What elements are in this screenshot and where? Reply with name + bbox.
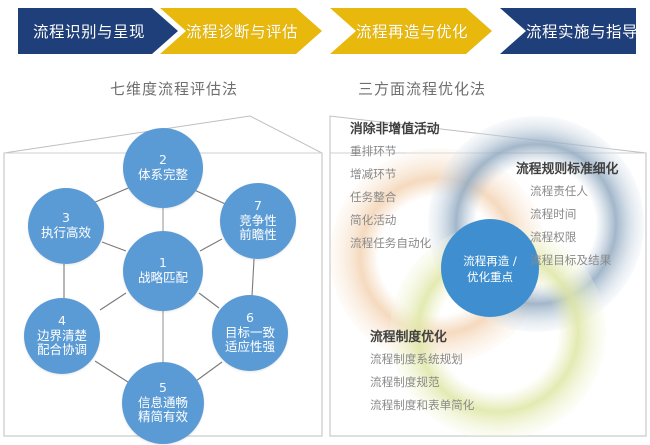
venn-group-eliminate-item-2: 任务整合 [350, 189, 440, 205]
dimension-node-6-label: 目标一致适应性强 [225, 326, 275, 356]
chevron-label-3[interactable]: 流程再造与优化 [348, 7, 476, 55]
dimension-node-4[interactable]: 4 边界清楚配合协调 [24, 298, 100, 374]
dimension-node-5-label: 信息通畅精简有效 [138, 396, 188, 426]
venn-group-eliminate-item-4: 流程任务自动化 [350, 235, 440, 251]
process-stage-banner: 流程识别与呈现 流程诊断与评估 流程再造与优化 流程实施与指导 [0, 0, 650, 56]
venn-group-rules-item-2: 流程权限 [530, 229, 618, 245]
dimension-node-1-number: 1 [159, 256, 167, 271]
venn-group-rules: 流程规则标准细化 流程责任人 流程时间 流程权限 流程目标及结果 [516, 158, 618, 275]
dimension-node-4-label: 边界清楚配合协调 [37, 329, 87, 359]
venn-group-eliminate-item-0: 重排环节 [350, 143, 440, 159]
chevron-label-1[interactable]: 流程识别与呈现 [18, 7, 160, 55]
seven-dimension-diagram: 2 体系完整 7 竞争性前瞻性 3 执行高效 1 战略匹配 6 目标一致适应性强… [0, 96, 322, 436]
venn-group-rules-item-1: 流程时间 [530, 206, 618, 222]
chevron-label-4[interactable]: 流程实施与指导 [518, 7, 646, 55]
three-aspect-venn: 流程再造 / 优化重点 消除非增值活动 重排环节 增减环节 任务整合 简化活动 … [330, 96, 650, 436]
dimension-node-5-number: 5 [159, 381, 167, 396]
dimension-node-1[interactable]: 1 战略匹配 [123, 231, 203, 311]
dimension-node-3[interactable]: 3 执行高效 [28, 188, 104, 264]
venn-group-eliminate-item-1: 增减环节 [350, 166, 440, 182]
dimension-node-6-number: 6 [246, 311, 254, 326]
dimension-node-6[interactable]: 6 目标一致适应性强 [212, 295, 288, 371]
dimension-node-2[interactable]: 2 体系完整 [123, 128, 203, 208]
dimension-node-7-label: 竞争性前瞻性 [239, 214, 277, 244]
venn-group-system-item-1: 流程制度规范 [370, 374, 474, 390]
venn-group-eliminate-title: 消除非增值活动 [350, 118, 440, 137]
dimension-node-3-number: 3 [62, 211, 70, 226]
venn-group-rules-item-0: 流程责任人 [530, 183, 618, 199]
venn-group-system-item-2: 流程制度和表单简化 [370, 397, 474, 413]
dimension-node-2-label: 体系完整 [138, 168, 188, 183]
dimension-node-7-number: 7 [254, 199, 262, 214]
dimension-node-1-label: 战略匹配 [138, 271, 188, 286]
dimension-node-5[interactable]: 5 信息通畅精简有效 [122, 362, 204, 444]
chevron-label-2[interactable]: 流程诊断与评估 [178, 7, 306, 55]
venn-group-system-item-0: 流程制度系统规划 [370, 351, 474, 367]
dimension-node-3-label: 执行高效 [41, 226, 91, 241]
venn-group-eliminate: 消除非增值活动 重排环节 增减环节 任务整合 简化活动 流程任务自动化 [350, 118, 440, 258]
venn-group-system: 流程制度优化 流程制度系统规划 流程制度规范 流程制度和表单简化 [370, 326, 474, 420]
venn-group-system-title: 流程制度优化 [370, 326, 474, 345]
slide-canvas: 流程识别与呈现 流程诊断与评估 流程再造与优化 流程实施与指导 七维度流程评估法 [0, 0, 650, 445]
dimension-node-7[interactable]: 7 竞争性前瞻性 [220, 183, 296, 259]
venn-group-rules-title: 流程规则标准细化 [516, 158, 618, 177]
venn-group-rules-item-3: 流程目标及结果 [530, 252, 618, 268]
dimension-node-4-number: 4 [58, 314, 66, 329]
venn-group-eliminate-item-3: 简化活动 [350, 212, 440, 228]
dimension-node-2-number: 2 [159, 153, 167, 168]
